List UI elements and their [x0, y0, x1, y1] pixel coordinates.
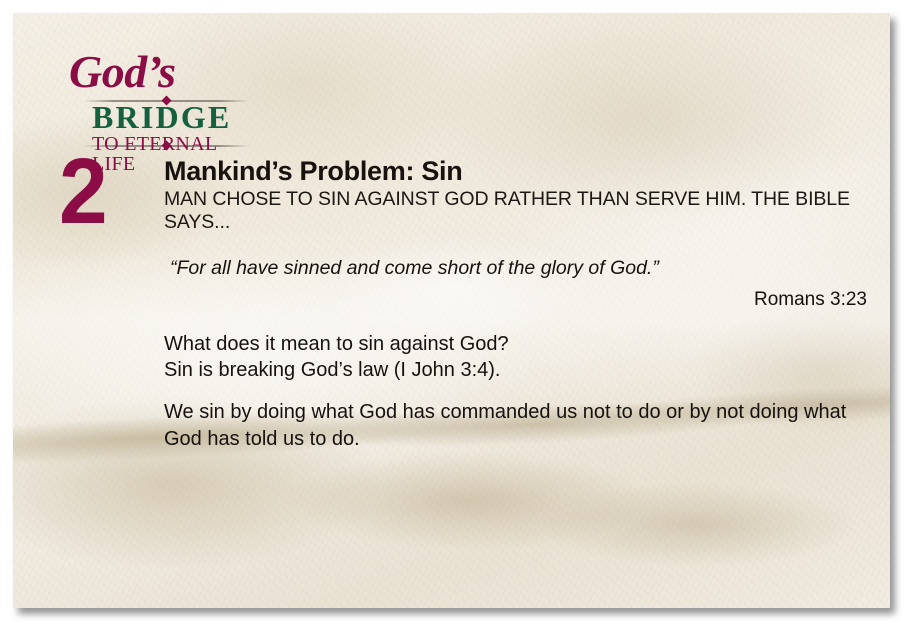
scripture-block: “For all have sinned and come short of t… [170, 256, 867, 311]
body-line-question: What does it mean to sin against God? [164, 331, 869, 357]
body-paragraph: We sin by doing what God has commanded u… [164, 399, 869, 453]
scripture-reference: Romans 3:23 [170, 289, 867, 311]
body-block: What does it mean to sin against God? Si… [164, 331, 869, 453]
page-title: Mankind’s Problem: Sin [164, 156, 874, 186]
logo-word-gods: God’s [69, 49, 176, 95]
page-canvas: God’s BRIDGE TO ETERNAL LIFE 2 Mankind’s… [0, 0, 905, 630]
scripture-quote: “For all have sinned and come short of t… [170, 256, 867, 280]
body-line-answer: Sin is breaking God’s law (I John 3:4). [164, 357, 869, 383]
logo-tagline: TO ETERNAL LIFE [92, 134, 256, 174]
section-subtitle: MAN CHOSE TO SIN AGAINST GOD RATHER THAN… [164, 188, 874, 234]
tract-card: God’s BRIDGE TO ETERNAL LIFE 2 Mankind’s… [13, 13, 890, 608]
logo-word-bridge: BRIDGE [92, 101, 231, 133]
heading-block: Mankind’s Problem: Sin MAN CHOSE TO SIN … [164, 156, 874, 234]
